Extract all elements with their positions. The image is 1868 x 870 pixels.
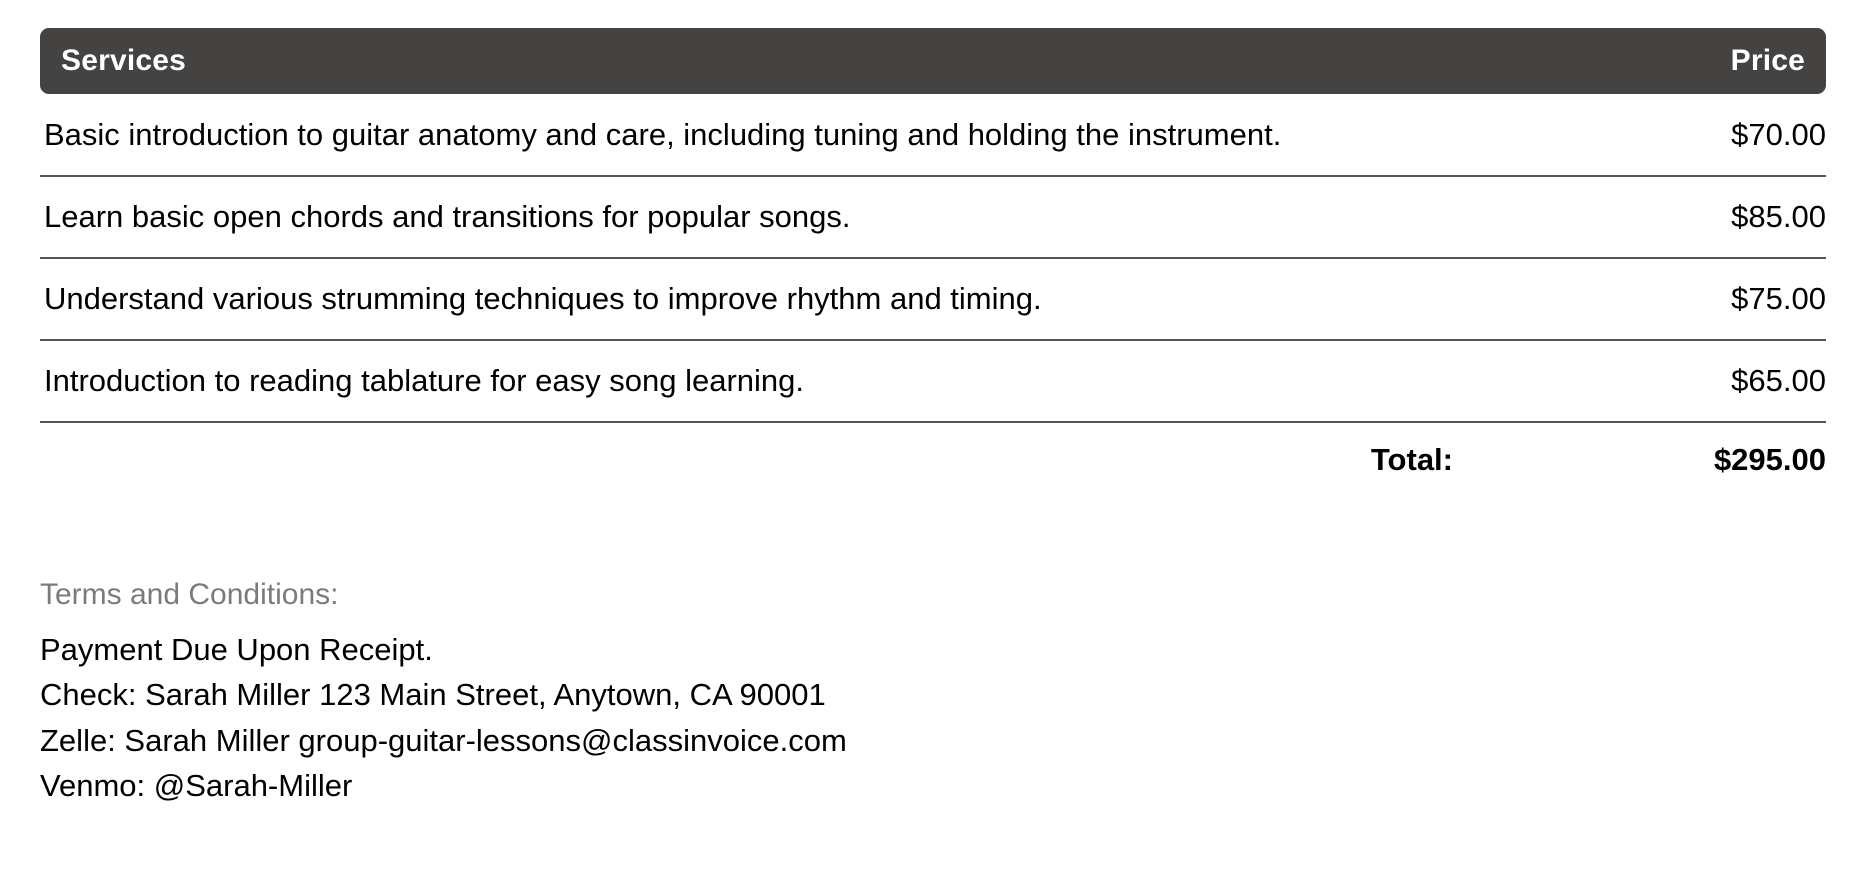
table-row: Learn basic open chords and transitions …	[40, 176, 1826, 258]
table-row: Understand various strumming techniques …	[40, 258, 1826, 340]
service-price: $75.00	[1535, 258, 1826, 340]
column-header-services: Services	[40, 28, 1535, 94]
service-price: $70.00	[1535, 94, 1826, 176]
terms-and-conditions: Terms and Conditions: Payment Due Upon R…	[40, 578, 1740, 808]
terms-line-payment: Payment Due Upon Receipt.	[40, 627, 1740, 672]
terms-line-check: Check: Sarah Miller 123 Main Street, Any…	[40, 672, 1740, 717]
service-price: $85.00	[1535, 176, 1826, 258]
table-total-row: Total: $295.00	[40, 422, 1826, 496]
column-header-price: Price	[1535, 28, 1826, 94]
table-header-row: Services Price	[40, 28, 1826, 94]
table-header: Services Price	[40, 28, 1826, 94]
total-label: Total:	[40, 422, 1535, 496]
service-description: Understand various strumming techniques …	[40, 258, 1535, 340]
table-row: Introduction to reading tablature for ea…	[40, 340, 1826, 422]
service-price: $65.00	[1535, 340, 1826, 422]
terms-line-venmo: Venmo: @Sarah-Miller	[40, 763, 1740, 808]
service-description: Introduction to reading tablature for ea…	[40, 340, 1535, 422]
table-body: Basic introduction to guitar anatomy and…	[40, 94, 1826, 496]
total-amount: $295.00	[1535, 422, 1826, 496]
terms-line-zelle: Zelle: Sarah Miller group-guitar-lessons…	[40, 718, 1740, 763]
service-description: Basic introduction to guitar anatomy and…	[40, 94, 1535, 176]
services-price-table: Services Price Basic introduction to gui…	[40, 28, 1826, 496]
service-description: Learn basic open chords and transitions …	[40, 176, 1535, 258]
invoice-services-section: Services Price Basic introduction to gui…	[0, 0, 1868, 870]
terms-title: Terms and Conditions:	[40, 578, 1740, 611]
table-row: Basic introduction to guitar anatomy and…	[40, 94, 1826, 176]
